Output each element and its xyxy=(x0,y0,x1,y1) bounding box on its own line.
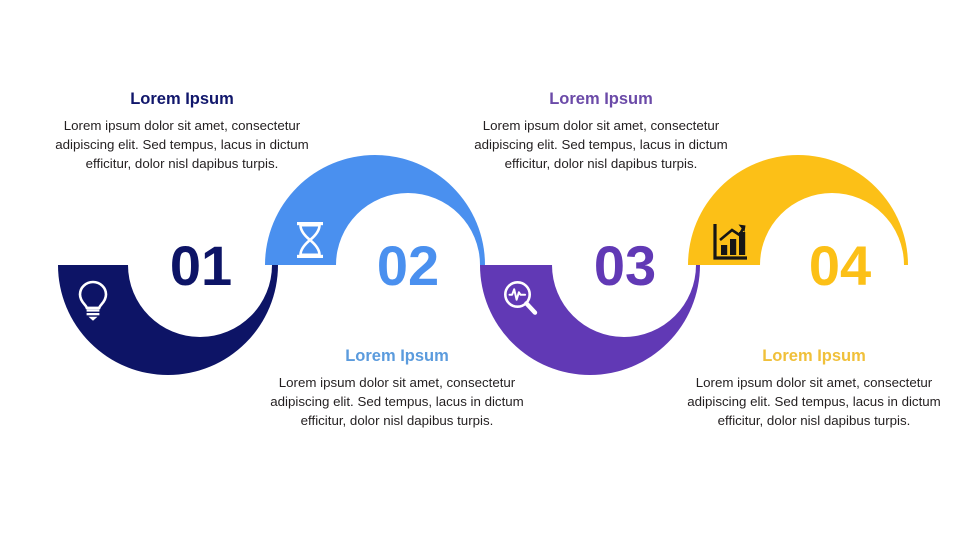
step-2-title: Lorem Ipsum xyxy=(262,347,532,367)
infographic-slide: 01 02 xyxy=(0,0,960,540)
step-1-text-block: Lorem Ipsum Lorem ipsum dolor sit amet, … xyxy=(48,90,316,173)
step-4-text-block: Lorem Ipsum Lorem ipsum dolor sit amet, … xyxy=(678,347,950,430)
bar-chart-growth-icon xyxy=(710,219,750,263)
hourglass-icon xyxy=(290,218,330,262)
step-2-text-block: Lorem Ipsum Lorem ipsum dolor sit amet, … xyxy=(262,347,532,430)
step-2-number: 02 xyxy=(343,238,473,294)
step-4-title: Lorem Ipsum xyxy=(678,347,950,367)
pulse-magnifier-icon xyxy=(500,277,540,321)
step-1-number: 01 xyxy=(136,238,266,294)
step-1-body: Lorem ipsum dolor sit amet, consectetur … xyxy=(48,117,316,174)
step-2-body: Lorem ipsum dolor sit amet, consectetur … xyxy=(262,374,532,431)
step-3-number: 03 xyxy=(560,238,690,294)
step-3-body: Lorem ipsum dolor sit amet, consectetur … xyxy=(466,117,736,174)
step-3-title: Lorem Ipsum xyxy=(466,90,736,110)
step-4-number: 04 xyxy=(775,238,905,294)
lightbulb-icon xyxy=(73,278,113,322)
step-3-text-block: Lorem Ipsum Lorem ipsum dolor sit amet, … xyxy=(466,90,736,173)
step-1-title: Lorem Ipsum xyxy=(48,90,316,110)
step-4-body: Lorem ipsum dolor sit amet, consectetur … xyxy=(678,374,950,431)
